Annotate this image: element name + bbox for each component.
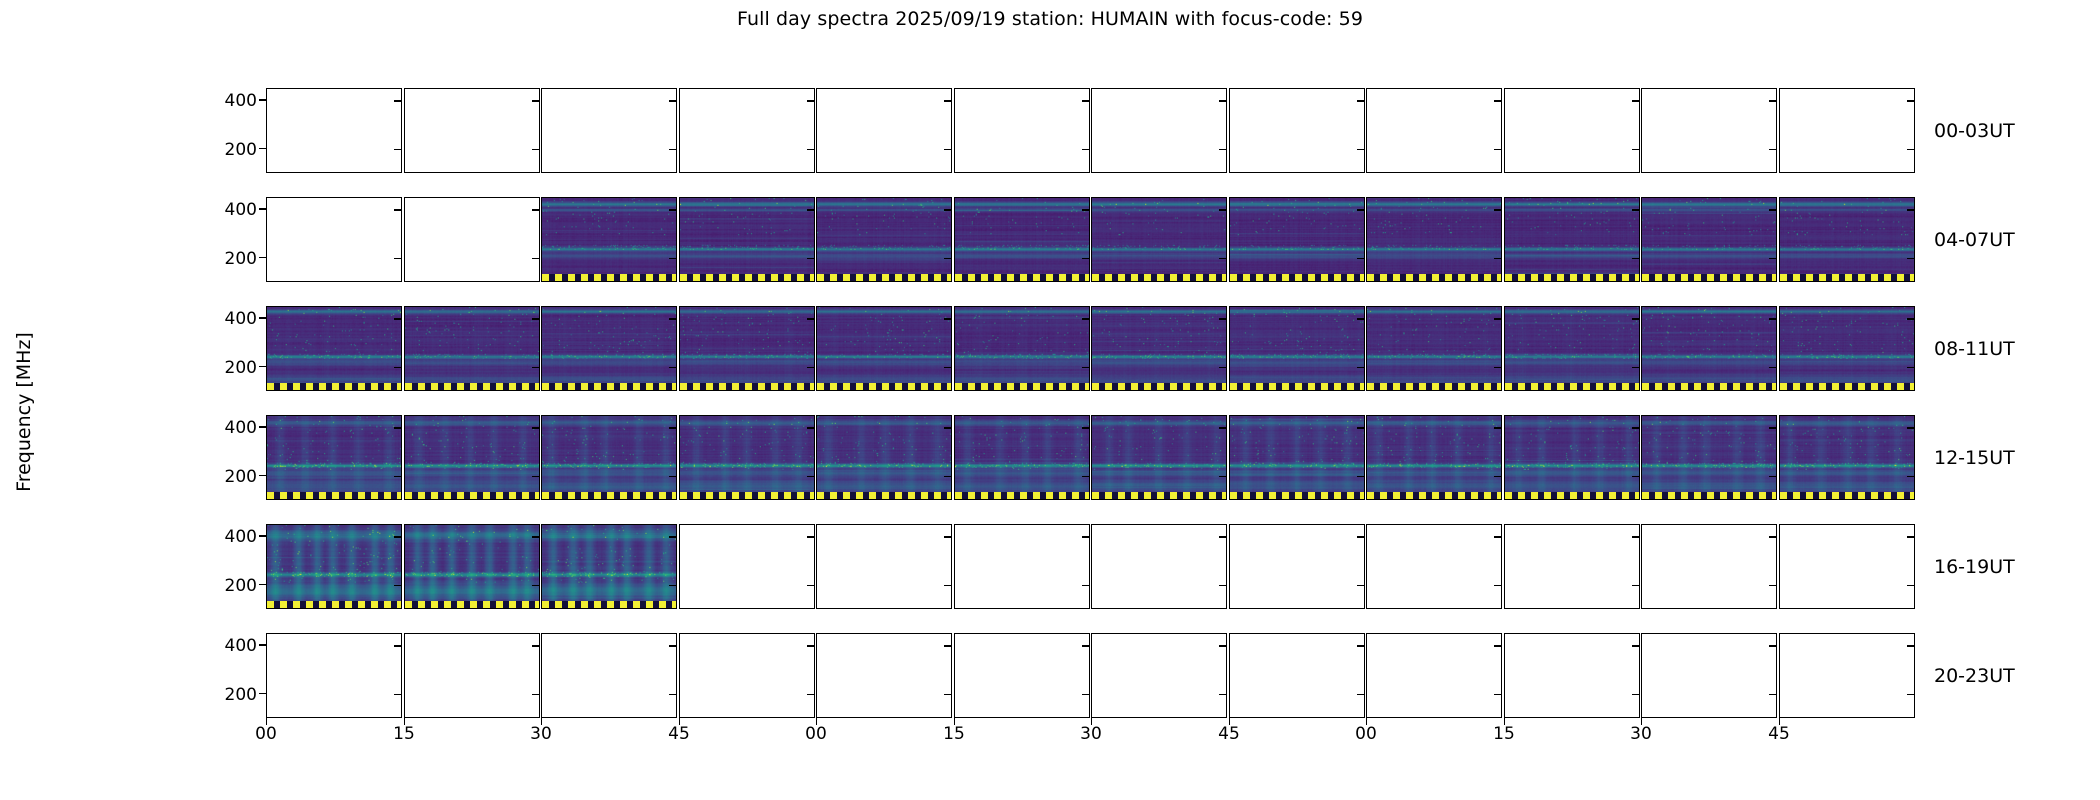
panel-inner-tick (807, 209, 814, 210)
panel-inner-tick (944, 476, 951, 477)
spectrogram-panel[interactable] (1366, 415, 1502, 500)
panel-inner-tick (1632, 476, 1639, 477)
row-time-label-16-19ut: 16-19UT (1934, 556, 2015, 578)
spectrogram-image (955, 198, 1089, 281)
panel-inner-tick (532, 427, 539, 428)
panel-inner-tick (1907, 258, 1914, 259)
panel-inner-tick (1082, 318, 1089, 319)
spectrogram-panel[interactable] (1641, 524, 1777, 609)
spectrogram-row-16-19ut: 200400 (266, 524, 1914, 609)
panel-inner-tick (1769, 427, 1776, 428)
panel-inner-tick (1494, 149, 1501, 150)
spectrogram-row-00-03ut: 200400 (266, 88, 1914, 173)
spectrogram-image (405, 307, 539, 390)
spectrogram-image (405, 416, 539, 499)
spectrogram-panel[interactable] (954, 415, 1090, 500)
spectrogram-panel[interactable] (541, 415, 677, 500)
spectrogram-panel[interactable] (1091, 197, 1227, 282)
spectrogram-panel[interactable] (1504, 524, 1640, 609)
y-tick-mark (259, 208, 266, 209)
panel-inner-tick (532, 318, 539, 319)
data-availability-marker (955, 492, 1089, 499)
spectrogram-panel[interactable] (1229, 88, 1365, 173)
panel-inner-tick (1357, 585, 1364, 586)
spectrogram-panel[interactable] (954, 88, 1090, 173)
panel-inner-tick (807, 427, 814, 428)
data-availability-marker (817, 492, 951, 499)
panel-inner-tick (1219, 645, 1226, 646)
panel-inner-tick (807, 645, 814, 646)
panel-inner-tick (944, 100, 951, 101)
panel-inner-tick (1494, 100, 1501, 101)
row-time-label-04-07ut: 04-07UT (1934, 229, 2015, 251)
panel-inner-tick (669, 536, 676, 537)
y-tick-label: 200 (197, 685, 266, 705)
spectrogram-panel[interactable] (1366, 524, 1502, 609)
x-tick-label: 45 (1768, 724, 1790, 744)
panel-inner-tick (944, 367, 951, 368)
spectrogram-image (955, 307, 1089, 390)
y-tick-mark (259, 366, 266, 367)
panel-inner-tick (1769, 149, 1776, 150)
panel-inner-tick (394, 694, 401, 695)
panel-inner-tick (394, 585, 401, 586)
spectrogram-panel[interactable] (266, 633, 402, 718)
spectrogram-panel[interactable] (1504, 415, 1640, 500)
spectrogram-panel[interactable] (1366, 88, 1502, 173)
panel-inner-tick (1907, 536, 1914, 537)
spectrogram-panel[interactable] (266, 524, 402, 609)
panel-inner-tick (1769, 645, 1776, 646)
data-availability-marker (817, 274, 951, 281)
panel-inner-tick (1357, 318, 1364, 319)
panel-inner-tick (1907, 367, 1914, 368)
spectrogram-panel[interactable] (679, 633, 815, 718)
x-tick-label: 00 (805, 724, 827, 744)
data-availability-marker (955, 383, 1089, 390)
spectrogram-image (1092, 198, 1226, 281)
spectrogram-panel[interactable] (404, 524, 540, 609)
spectrogram-panel[interactable] (1779, 88, 1915, 173)
spectrogram-panel[interactable] (954, 197, 1090, 282)
panel-inner-tick (1219, 367, 1226, 368)
spectrogram-panel[interactable] (1641, 88, 1777, 173)
panel-inner-tick (532, 645, 539, 646)
data-availability-marker (1230, 492, 1364, 499)
spectrogram-panel[interactable] (404, 306, 540, 391)
panel-inner-tick (1769, 476, 1776, 477)
data-availability-marker (542, 492, 676, 499)
spectrogram-panel[interactable] (1641, 197, 1777, 282)
y-tick-label: 400 (197, 418, 266, 438)
data-availability-marker (267, 383, 401, 390)
data-availability-marker (1367, 274, 1501, 281)
panel-inner-tick (532, 476, 539, 477)
panel-inner-tick (1219, 585, 1226, 586)
spectrogram-image (680, 198, 814, 281)
panel-inner-tick (1494, 209, 1501, 210)
panel-inner-tick (1494, 318, 1501, 319)
data-availability-marker (1230, 383, 1364, 390)
x-tick-label: 00 (1355, 724, 1377, 744)
spectrogram-panel[interactable] (541, 88, 677, 173)
spectrogram-panel[interactable] (954, 524, 1090, 609)
data-availability-marker (267, 601, 401, 608)
panel-inner-tick (1082, 209, 1089, 210)
spectrogram-panel[interactable] (1229, 633, 1365, 718)
panel-inner-tick (1357, 258, 1364, 259)
figure-canvas: Full day spectra 2025/09/19 station: HUM… (0, 0, 2100, 800)
spectrogram-panel[interactable] (404, 88, 540, 173)
panel-inner-tick (1494, 367, 1501, 368)
panel-inner-tick (1907, 149, 1914, 150)
panel-inner-tick (807, 536, 814, 537)
panel-inner-tick (669, 100, 676, 101)
data-availability-marker (680, 274, 814, 281)
data-availability-marker (405, 492, 539, 499)
panel-inner-tick (807, 585, 814, 586)
y-tick-label: 200 (197, 576, 266, 596)
y-tick-label: 200 (197, 467, 266, 487)
panel-inner-tick (1769, 694, 1776, 695)
data-availability-marker (1092, 492, 1226, 499)
y-tick-mark (259, 148, 266, 149)
panel-inner-tick (669, 258, 676, 259)
spectrogram-panel[interactable] (1229, 197, 1365, 282)
data-availability-marker (542, 601, 676, 608)
panel-inner-tick (1632, 367, 1639, 368)
panel-inner-tick (1494, 258, 1501, 259)
spectrogram-panel[interactable] (1504, 306, 1640, 391)
panel-inner-tick (532, 536, 539, 537)
spectrogram-panel[interactable] (1641, 633, 1777, 718)
panel-inner-tick (1907, 694, 1914, 695)
panel-inner-tick (944, 258, 951, 259)
spectrogram-image (1780, 307, 1914, 390)
spectrogram-panel[interactable] (1091, 524, 1227, 609)
data-availability-marker (1505, 274, 1639, 281)
spectrogram-image (680, 416, 814, 499)
panel-inner-tick (807, 149, 814, 150)
spectrogram-panel[interactable] (404, 415, 540, 500)
spectrogram-panel[interactable] (954, 633, 1090, 718)
spectrogram-panel[interactable] (1779, 524, 1915, 609)
panel-inner-tick (1219, 318, 1226, 319)
panel-inner-tick (1219, 100, 1226, 101)
panel-inner-tick (1907, 645, 1914, 646)
panel-inner-tick (1082, 694, 1089, 695)
spectrogram-row-04-07ut: 200400 (266, 197, 1914, 282)
panel-inner-tick (1357, 149, 1364, 150)
x-tick-label: 30 (1630, 724, 1652, 744)
spectrogram-panel[interactable] (679, 306, 815, 391)
spectrogram-panel[interactable] (1366, 306, 1502, 391)
panel-inner-tick (1632, 318, 1639, 319)
spectrogram-panel[interactable] (816, 633, 952, 718)
panel-inner-tick (1219, 536, 1226, 537)
spectrogram-image (1642, 307, 1776, 390)
y-tick-label: 200 (197, 249, 266, 269)
spectrogram-image (1092, 307, 1226, 390)
spectrogram-panel[interactable] (816, 415, 952, 500)
panel-inner-tick (1082, 536, 1089, 537)
panel-inner-tick (669, 427, 676, 428)
data-availability-marker (1780, 383, 1914, 390)
data-availability-marker (542, 274, 676, 281)
spectrogram-image (267, 416, 401, 499)
spectrogram-panel[interactable] (1779, 415, 1915, 500)
data-availability-marker (1092, 383, 1226, 390)
y-tick-label: 200 (197, 358, 266, 378)
spectrogram-panel[interactable] (679, 197, 815, 282)
spectrogram-image (1230, 307, 1364, 390)
figure-title: Full day spectra 2025/09/19 station: HUM… (0, 8, 2100, 30)
x-tick-label: 15 (393, 724, 415, 744)
data-availability-marker (1642, 383, 1776, 390)
panel-inner-tick (1357, 645, 1364, 646)
panel-inner-tick (1632, 585, 1639, 586)
spectrogram-panel[interactable] (816, 88, 952, 173)
panel-inner-tick (1769, 536, 1776, 537)
panel-inner-tick (532, 209, 539, 210)
spectrogram-panel[interactable] (541, 633, 677, 718)
panel-inner-tick (669, 645, 676, 646)
panel-inner-tick (394, 258, 401, 259)
y-tick-mark (259, 257, 266, 258)
panel-inner-tick (394, 427, 401, 428)
panel-inner-tick (1632, 209, 1639, 210)
x-tick-label: 15 (943, 724, 965, 744)
panel-inner-tick (1357, 209, 1364, 210)
panel-inner-tick (944, 585, 951, 586)
panel-inner-tick (1769, 367, 1776, 368)
spectrogram-panel[interactable] (266, 88, 402, 173)
panel-inner-tick (1082, 645, 1089, 646)
spectrogram-image (680, 307, 814, 390)
spectrogram-panel[interactable] (1779, 197, 1915, 282)
x-tick-label: 45 (668, 724, 690, 744)
spectrogram-panel[interactable] (1504, 197, 1640, 282)
spectrogram-panel[interactable] (1504, 88, 1640, 173)
panel-inner-tick (1769, 100, 1776, 101)
panel-inner-tick (807, 694, 814, 695)
x-tick-label: 00 (255, 724, 277, 744)
panel-inner-tick (532, 149, 539, 150)
panel-inner-tick (1357, 427, 1364, 428)
panel-inner-tick (944, 318, 951, 319)
data-availability-marker (1505, 383, 1639, 390)
spectrogram-panel[interactable] (1229, 306, 1365, 391)
panel-inner-tick (1632, 100, 1639, 101)
y-tick-mark (259, 644, 266, 645)
data-availability-marker (267, 492, 401, 499)
spectrogram-image (817, 198, 951, 281)
y-tick-mark (259, 317, 266, 318)
panel-inner-tick (394, 100, 401, 101)
row-time-label-12-15ut: 12-15UT (1934, 447, 2015, 469)
panel-inner-tick (1907, 100, 1914, 101)
spectrogram-panel[interactable] (1091, 633, 1227, 718)
spectrogram-panel[interactable] (541, 306, 677, 391)
spectrogram-image (1642, 198, 1776, 281)
panel-inner-tick (1357, 476, 1364, 477)
panel-inner-tick (669, 318, 676, 319)
panel-inner-tick (1219, 427, 1226, 428)
panel-inner-tick (1632, 536, 1639, 537)
spectrogram-panel[interactable] (1091, 88, 1227, 173)
panel-inner-tick (1494, 585, 1501, 586)
panel-inner-tick (1907, 585, 1914, 586)
spectrogram-image (817, 416, 951, 499)
panel-inner-tick (532, 258, 539, 259)
data-availability-marker (542, 383, 676, 390)
spectrogram-image (1505, 198, 1639, 281)
row-time-label-20-23ut: 20-23UT (1934, 665, 2015, 687)
spectrogram-row-08-11ut: 200400 (266, 306, 1914, 391)
spectrogram-panel[interactable] (816, 524, 952, 609)
data-availability-marker (1505, 492, 1639, 499)
spectrogram-grid: 20040000-03UT20040004-07UT20040008-11UT2… (266, 88, 1914, 718)
spectrogram-panel[interactable] (816, 197, 952, 282)
panel-inner-tick (1769, 209, 1776, 210)
panel-inner-tick (944, 209, 951, 210)
spectrogram-image (542, 307, 676, 390)
panel-inner-tick (669, 367, 676, 368)
panel-inner-tick (1907, 318, 1914, 319)
panel-inner-tick (1082, 100, 1089, 101)
spectrogram-panel[interactable] (1779, 306, 1915, 391)
panel-inner-tick (1357, 536, 1364, 537)
data-availability-marker (817, 383, 951, 390)
spectrogram-panel[interactable] (404, 633, 540, 718)
panel-inner-tick (944, 427, 951, 428)
panel-inner-tick (1219, 258, 1226, 259)
panel-inner-tick (807, 367, 814, 368)
panel-inner-tick (532, 585, 539, 586)
row-time-label-00-03ut: 00-03UT (1934, 120, 2015, 142)
spectrogram-image (542, 198, 676, 281)
panel-inner-tick (1494, 645, 1501, 646)
row-time-label-08-11ut: 08-11UT (1934, 338, 2015, 360)
spectrogram-panel[interactable] (679, 88, 815, 173)
panel-inner-tick (669, 694, 676, 695)
panel-inner-tick (1494, 476, 1501, 477)
spectrogram-panel[interactable] (266, 306, 402, 391)
spectrogram-image (1092, 416, 1226, 499)
panel-inner-tick (1082, 149, 1089, 150)
spectrogram-panel[interactable] (1229, 415, 1365, 500)
spectrogram-panel[interactable] (1779, 633, 1915, 718)
panel-inner-tick (1219, 476, 1226, 477)
panel-inner-tick (669, 476, 676, 477)
panel-inner-tick (1082, 585, 1089, 586)
panel-inner-tick (532, 100, 539, 101)
panel-inner-tick (1082, 367, 1089, 368)
data-availability-marker (1780, 492, 1914, 499)
spectrogram-image (1642, 416, 1776, 499)
spectrogram-row-20-23ut: 200400 (266, 633, 1914, 718)
spectrogram-image (405, 525, 539, 608)
spectrogram-panel[interactable] (954, 306, 1090, 391)
spectrogram-panel[interactable] (1091, 415, 1227, 500)
panel-inner-tick (1082, 427, 1089, 428)
panel-inner-tick (532, 694, 539, 695)
data-availability-marker (680, 383, 814, 390)
spectrogram-panel[interactable] (1641, 415, 1777, 500)
panel-inner-tick (807, 258, 814, 259)
spectrogram-image (1367, 198, 1501, 281)
panel-inner-tick (669, 209, 676, 210)
y-tick-mark (259, 693, 266, 694)
panel-inner-tick (394, 209, 401, 210)
spectrogram-panel[interactable] (266, 415, 402, 500)
spectrogram-image (1505, 416, 1639, 499)
panel-inner-tick (944, 645, 951, 646)
panel-inner-tick (1632, 645, 1639, 646)
spectrogram-image (955, 416, 1089, 499)
y-tick-mark (259, 475, 266, 476)
panel-inner-tick (394, 318, 401, 319)
spectrogram-image (817, 307, 951, 390)
spectrogram-panel[interactable] (1229, 524, 1365, 609)
spectrogram-panel[interactable] (541, 524, 677, 609)
spectrogram-image (1367, 307, 1501, 390)
panel-inner-tick (1082, 258, 1089, 259)
panel-inner-tick (1632, 694, 1639, 695)
spectrogram-panel[interactable] (1366, 197, 1502, 282)
panel-inner-tick (1219, 209, 1226, 210)
panel-inner-tick (1082, 476, 1089, 477)
x-tick-label: 30 (1080, 724, 1102, 744)
spectrogram-panel[interactable] (404, 197, 540, 282)
spectrogram-panel[interactable] (1366, 633, 1502, 718)
data-availability-marker (1092, 274, 1226, 281)
spectrogram-panel[interactable] (541, 197, 677, 282)
panel-inner-tick (944, 694, 951, 695)
spectrogram-image (1367, 416, 1501, 499)
spectrogram-panel[interactable] (1504, 633, 1640, 718)
spectrogram-image (1505, 307, 1639, 390)
data-availability-marker (405, 383, 539, 390)
y-tick-label: 400 (197, 527, 266, 547)
panel-inner-tick (1357, 694, 1364, 695)
spectrogram-panel[interactable] (266, 197, 402, 282)
spectrogram-panel[interactable] (679, 524, 815, 609)
y-tick-mark (259, 584, 266, 585)
y-tick-label: 400 (197, 309, 266, 329)
data-availability-marker (1367, 492, 1501, 499)
y-tick-mark (259, 426, 266, 427)
data-availability-marker (1780, 274, 1914, 281)
panel-inner-tick (669, 149, 676, 150)
spectrogram-image (267, 525, 401, 608)
spectrogram-panel[interactable] (816, 306, 952, 391)
panel-inner-tick (807, 476, 814, 477)
panel-inner-tick (394, 367, 401, 368)
panel-inner-tick (1769, 258, 1776, 259)
spectrogram-panel[interactable] (1641, 306, 1777, 391)
data-availability-marker (405, 601, 539, 608)
panel-inner-tick (944, 149, 951, 150)
panel-inner-tick (394, 149, 401, 150)
y-axis-label: Frequency [MHz] (13, 32, 37, 792)
panel-inner-tick (532, 367, 539, 368)
spectrogram-panel[interactable] (679, 415, 815, 500)
data-availability-marker (1367, 383, 1501, 390)
spectrogram-image (1230, 198, 1364, 281)
spectrogram-panel[interactable] (1091, 306, 1227, 391)
panel-inner-tick (807, 100, 814, 101)
